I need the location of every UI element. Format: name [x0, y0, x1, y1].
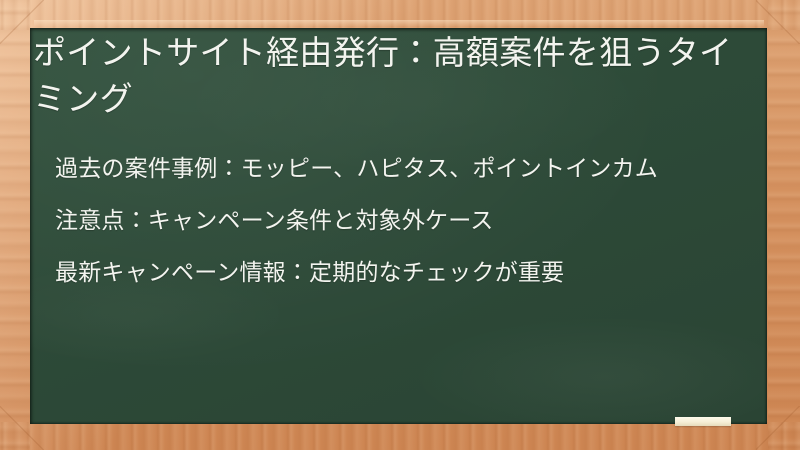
wood-grain-right: [768, 0, 800, 450]
chalkboard: ポイントサイト経由発行：高額案件を狙うタイミング 過去の案件事例：モッピー、ハピ…: [30, 28, 767, 424]
frame-highlight-band: [34, 20, 764, 26]
slide-title: ポイントサイト経由発行：高額案件を狙うタイミング: [33, 30, 743, 122]
thumbnail-canvas: ポイントサイト経由発行：高額案件を狙うタイミング 過去の案件事例：モッピー、ハピ…: [0, 0, 800, 450]
chalk-stick-icon: [675, 417, 731, 426]
slide-bullet-item: 最新キャンペーン情報：定期的なチェックが重要: [55, 254, 755, 291]
wood-grain-bottom: [0, 422, 800, 450]
slide-bullet-item: 注意点：キャンペーン条件と対象外ケース: [55, 202, 755, 239]
slide-bullet-list: 過去の案件事例：モッピー、ハピタス、ポイントインカム 注意点：キャンペーン条件と…: [55, 150, 755, 291]
wood-grain-left: [0, 0, 30, 450]
wood-grain-top: [0, 0, 800, 30]
slide-bullet-item: 過去の案件事例：モッピー、ハピタス、ポイントインカム: [55, 150, 755, 187]
